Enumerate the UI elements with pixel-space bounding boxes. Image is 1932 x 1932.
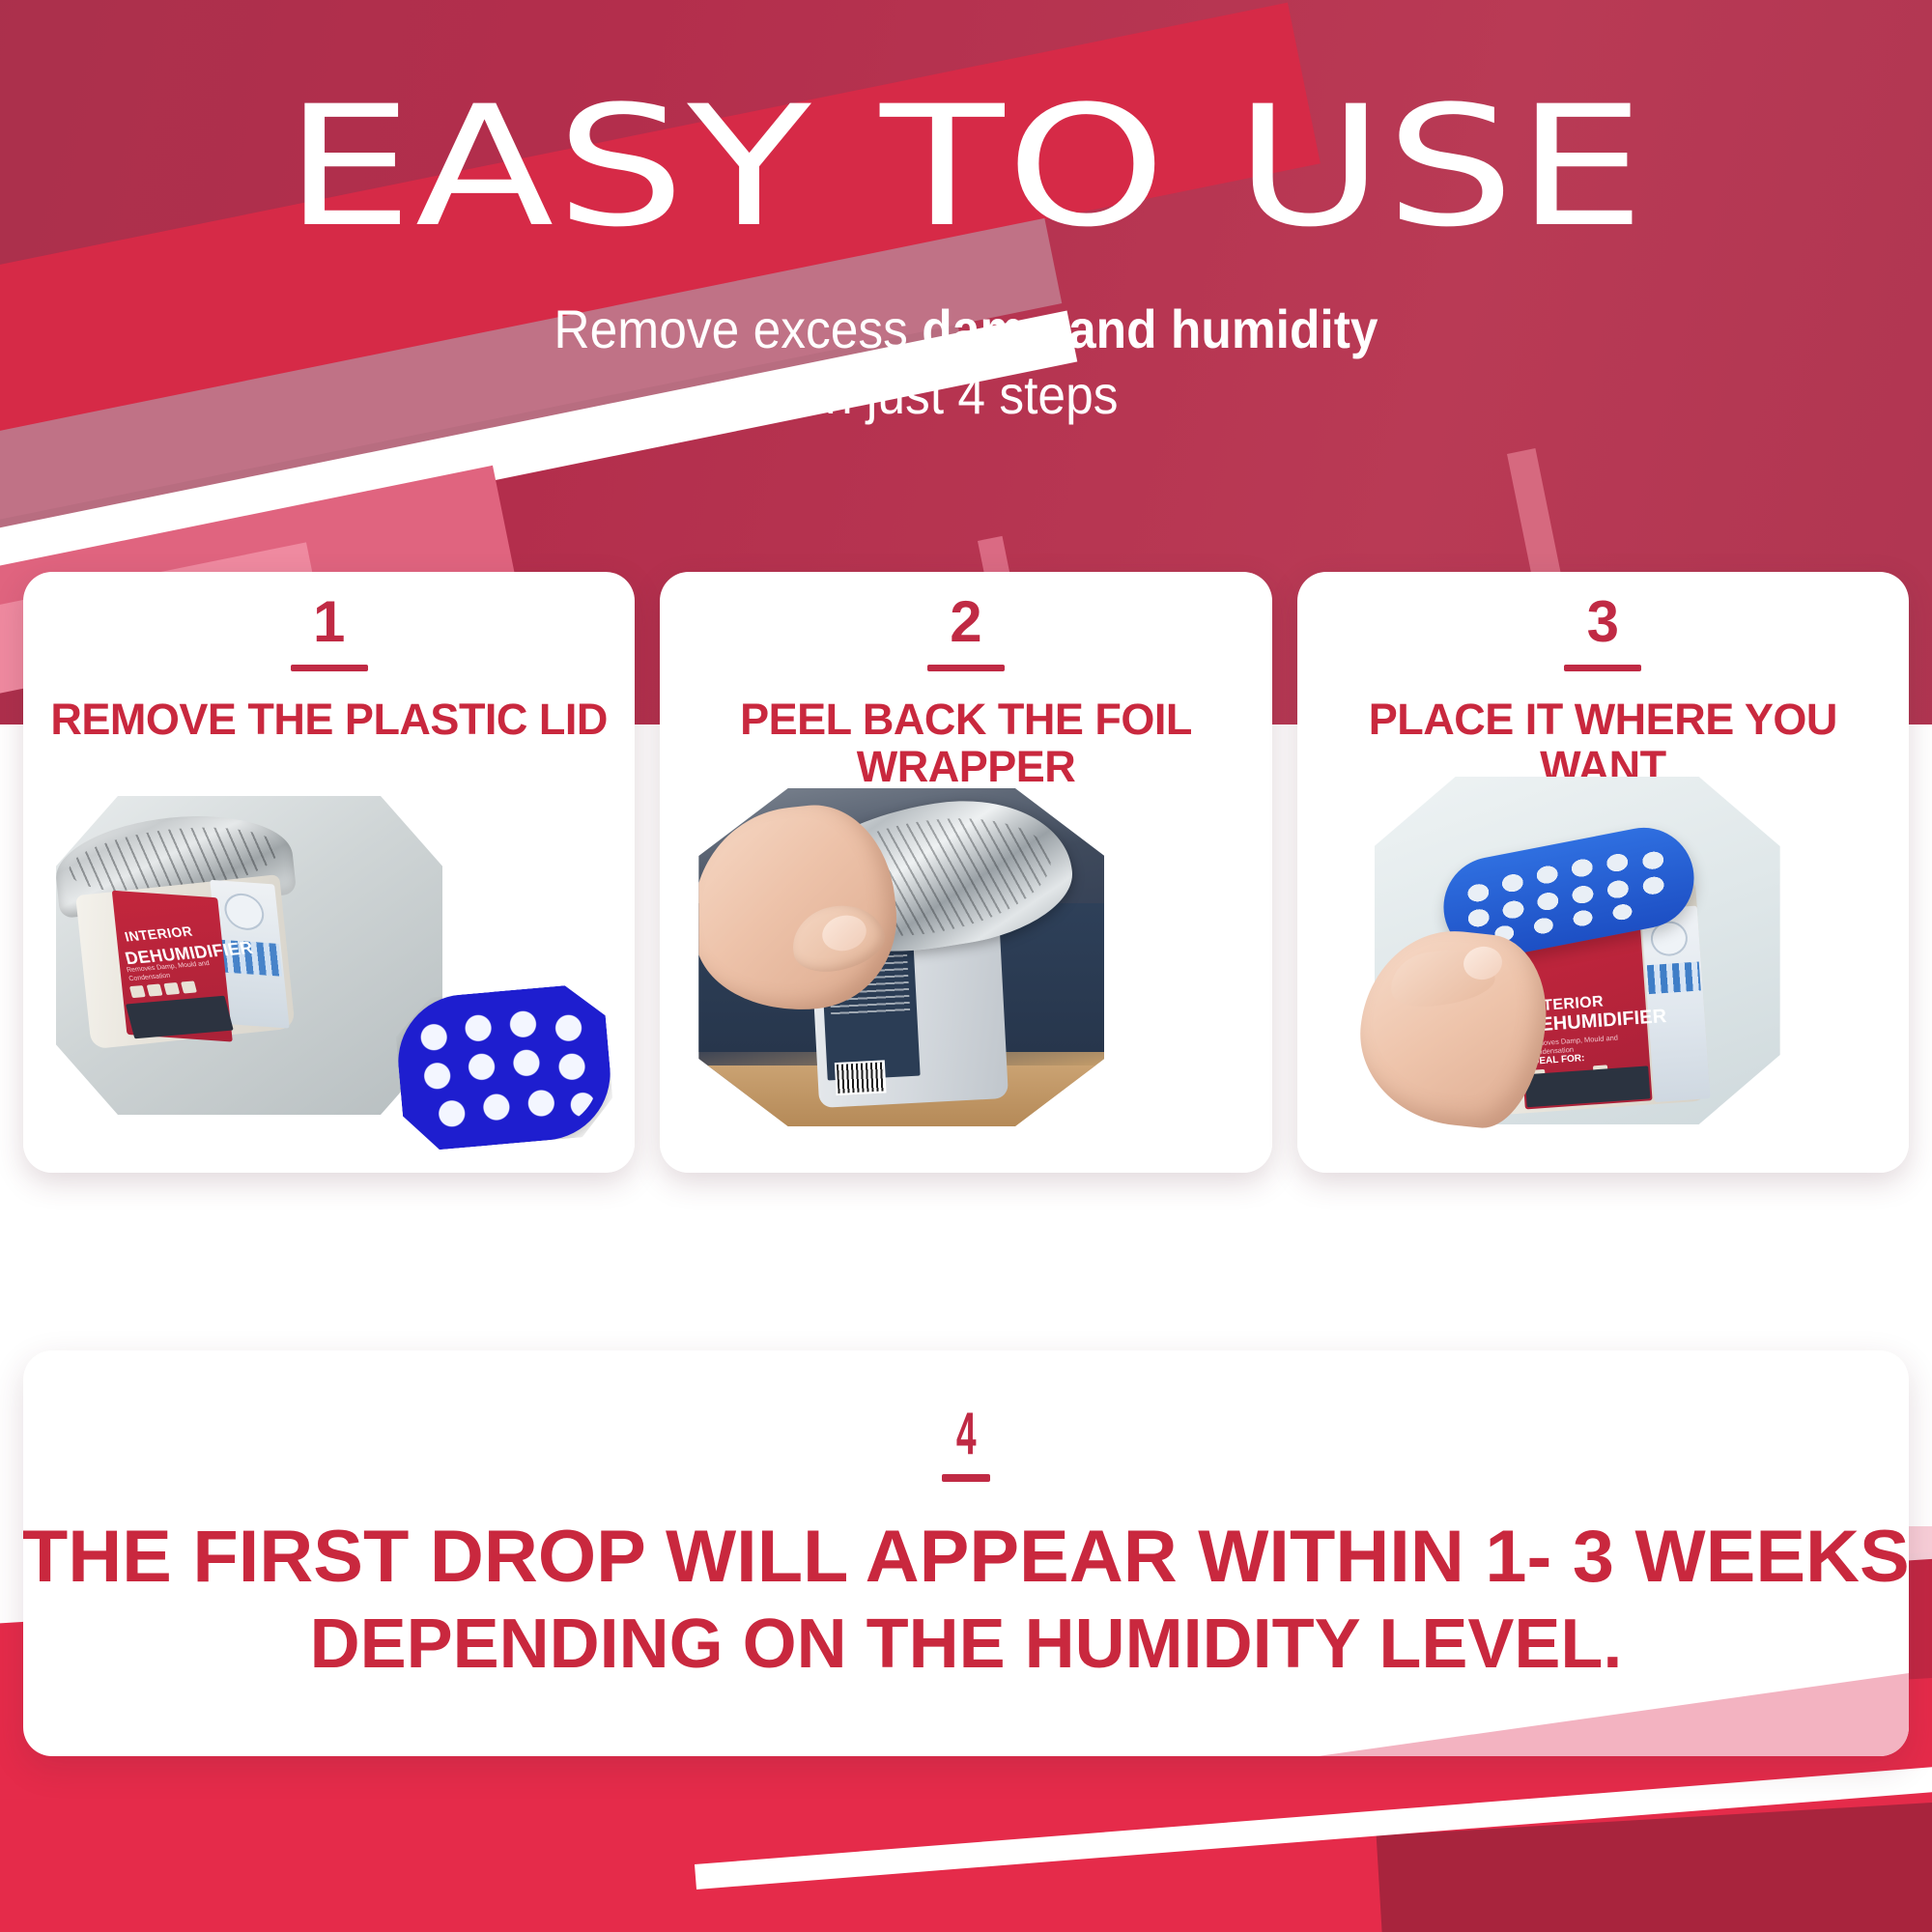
step-number-1: 1 [313, 593, 345, 651]
tub-disc-icon [223, 893, 266, 932]
step-card-4[interactable]: 4 THE FIRST DROP WILL APPEAR WITHIN 1- 3… [23, 1350, 1909, 1756]
label-brand-line1: INTERIOR [123, 923, 194, 945]
step-number-4: 4 [956, 1405, 977, 1464]
step-number-2: 2 [950, 593, 981, 651]
step-card-1[interactable]: 1 REMOVE THE PLASTIC LID INTERIOR [23, 572, 635, 1173]
product-label-1: INTERIOR DEHUMIDIFIER Removes Damp, Moul… [112, 891, 233, 1042]
step4-line1-prefix: THE FIRST DROP WILL APPEAR WITHIN [23, 1516, 1486, 1598]
subtitle-line2: in just 4 steps [77, 362, 1855, 428]
dehumidifier-tub-sealed: INTERIOR DEHUMIDIFIER Removes Damp, Moul… [59, 807, 302, 1046]
step-divider-2 [927, 665, 1005, 671]
step-divider-3 [1564, 665, 1641, 671]
label-dark-footer [126, 996, 234, 1039]
panel-corner-wedge [1199, 1671, 1909, 1756]
step-photo-2 [660, 786, 1271, 1173]
step-title-3: PLACE IT WHERE YOU WANT [1297, 696, 1909, 790]
step-divider-1 [291, 665, 368, 671]
step-photo-1: INTERIOR DEHUMIDIFIER Removes Damp, Moul… [23, 786, 635, 1173]
subtitle-prefix: Remove excess [554, 298, 922, 359]
barcode-icon [835, 1060, 887, 1095]
step-title-1: REMOVE THE PLASTIC LID [33, 696, 625, 744]
step-card-2[interactable]: 2 PEEL BACK THE FOIL WRAPPER [660, 572, 1271, 1173]
infographic-canvas: EASY TO USE Remove excess damp and humid… [0, 0, 1932, 1932]
step4-line2: DEPENDING ON THE HUMIDITY LEVEL. [310, 1609, 1623, 1679]
chip-icon [129, 985, 146, 998]
page-subtitle: Remove excess damp and humidity in just … [77, 297, 1855, 429]
step-card-3[interactable]: 3 PLACE IT WHERE YOU WANT INTERIOR DEHUM… [1297, 572, 1909, 1173]
step-photo-3: INTERIOR DEHUMIDIFIER Removes Damp, Moul… [1297, 786, 1909, 1173]
steps-row: 1 REMOVE THE PLASTIC LID INTERIOR [0, 572, 1932, 1173]
step-divider-4 [942, 1474, 990, 1482]
tub-blue-band-3 [1646, 961, 1700, 994]
chip-icon [181, 980, 197, 993]
step-number-3: 3 [1587, 593, 1619, 651]
chip-icon [147, 983, 163, 996]
step-title-2: PEEL BACK THE FOIL WRAPPER [660, 696, 1271, 790]
chip-icon [163, 982, 180, 995]
page-title: EASY TO USE [0, 87, 1932, 246]
step4-line1-strong: 1- 3 WEEKS [1486, 1516, 1909, 1598]
photo-mask-hexagon [698, 788, 1104, 1126]
subtitle-bold: damp and humidity [922, 298, 1378, 359]
blue-perforated-lid [393, 982, 616, 1152]
step4-line1: THE FIRST DROP WILL APPEAR WITHIN 1- 3 W… [23, 1520, 1909, 1594]
header: EASY TO USE Remove excess damp and humid… [0, 0, 1932, 429]
